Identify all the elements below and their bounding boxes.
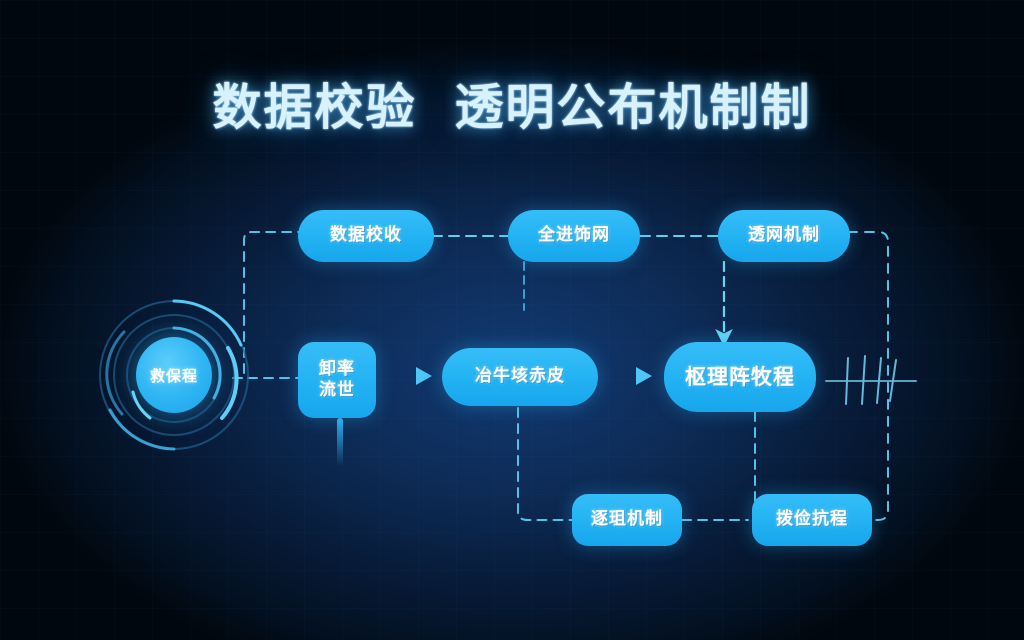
node-flow-entry-label: 卸率 流世 xyxy=(319,359,355,402)
node-review-process-label: 枢理阵牧程 xyxy=(685,364,795,390)
node-data-verification[interactable]: 数据校收 xyxy=(298,210,434,262)
node-full-process-audit[interactable]: 全进饰网 xyxy=(508,210,640,262)
wire-review-to-bottom2 xyxy=(755,412,764,508)
arrow-right-2 xyxy=(614,367,652,385)
node-supervision-mechanism-label: 逐珇机制 xyxy=(591,509,663,530)
node-transparency-mechanism-label: 透网机制 xyxy=(748,225,820,246)
node-audit-flow-label: 拨俭抗程 xyxy=(776,509,848,530)
node-review-process[interactable]: 枢理阵牧程 xyxy=(664,342,816,412)
wire-mid2-to-bottom1 xyxy=(518,408,572,520)
slide-canvas: 数据校验 透明公布机制制 xyxy=(0,0,1024,640)
node-verify-speed[interactable]: 冶牛垓赤皮 xyxy=(442,348,598,406)
arrow-right-1 xyxy=(392,367,432,385)
radar-hub-label: 救保程 xyxy=(136,337,212,413)
radar-hub[interactable]: 救保程 xyxy=(95,296,253,454)
wire-right-loop xyxy=(848,232,888,520)
node-verify-speed-label: 冶牛垓赤皮 xyxy=(475,366,565,387)
node-supervision-mechanism[interactable]: 逐珇机制 xyxy=(572,494,682,546)
node-data-verification-label: 数据校收 xyxy=(330,225,402,246)
tally-marks-icon xyxy=(826,356,916,404)
node-transparency-mechanism[interactable]: 透网机制 xyxy=(718,210,850,262)
gradient-stub xyxy=(337,418,343,466)
node-audit-flow[interactable]: 拨俭抗程 xyxy=(752,494,872,546)
node-full-process-audit-label: 全进饰网 xyxy=(538,225,610,246)
node-flow-entry[interactable]: 卸率 流世 xyxy=(298,342,376,418)
